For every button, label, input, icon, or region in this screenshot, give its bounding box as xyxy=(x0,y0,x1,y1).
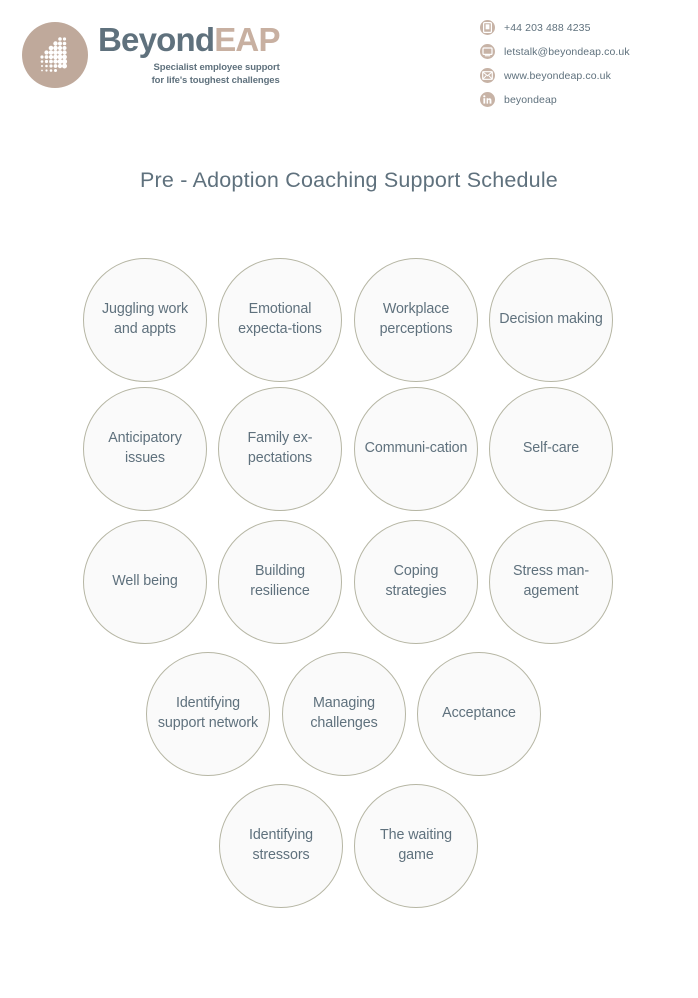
topic-bubble[interactable]: Decision making xyxy=(489,258,613,382)
contact-item-website[interactable]: www.beyondeap.co.uk xyxy=(480,64,680,87)
brand-tagline: Specialist employee support for life's t… xyxy=(98,62,280,88)
topic-bubble-label: Emotional expecta-tions xyxy=(219,300,341,339)
brand-name-secondary: EAP xyxy=(214,21,279,58)
topic-bubble-label: Self-care xyxy=(515,439,587,459)
contact-item-linkedin[interactable]: beyondeap xyxy=(480,88,680,111)
topic-bubble-label: Identifying support network xyxy=(147,694,269,733)
topic-bubble[interactable]: Self-care xyxy=(489,387,613,511)
topic-bubble[interactable]: Acceptance xyxy=(417,652,541,776)
topic-bubble[interactable]: Identifying support network xyxy=(146,652,270,776)
topic-bubble-label: Managing challenges xyxy=(283,694,405,733)
topic-bubble[interactable]: Emotional expecta-tions xyxy=(218,258,342,382)
brand-tagline-line-1: Specialist employee support xyxy=(98,62,280,75)
topic-bubble-label: Acceptance xyxy=(434,704,524,724)
topic-bubble[interactable]: Anticipatory issues xyxy=(83,387,207,511)
topic-bubble[interactable]: Family ex-pectations xyxy=(218,387,342,511)
envelope-icon xyxy=(480,68,495,83)
linkedin-icon xyxy=(480,92,495,107)
contact-linkedin-text: beyondeap xyxy=(504,94,557,106)
contact-item-email[interactable]: letstalk@beyondeap.co.uk xyxy=(480,40,680,63)
brand-logo: BeyondEAP Specialist employee support fo… xyxy=(22,20,280,88)
topic-bubble-label: Well being xyxy=(104,572,186,592)
topic-bubble[interactable]: Managing challenges xyxy=(282,652,406,776)
topic-bubble[interactable]: Well being xyxy=(83,520,207,644)
topic-bubble[interactable]: Communi-cation xyxy=(354,387,478,511)
topic-bubble[interactable]: Building resilience xyxy=(218,520,342,644)
bubble-diagram: Juggling work and apptsEmotional expecta… xyxy=(0,252,698,922)
topic-bubble-label: Coping strategies xyxy=(355,562,477,601)
topic-bubble[interactable]: The waiting game xyxy=(354,784,478,908)
brand-name: BeyondEAP xyxy=(98,23,280,56)
brand-wordmark: BeyondEAP Specialist employee support fo… xyxy=(98,20,280,88)
topic-bubble-label: Building resilience xyxy=(219,562,341,601)
contact-list: +44 203 488 4235 letstalk@beyondeap.co.u… xyxy=(480,16,680,112)
page-header: BeyondEAP Specialist employee support fo… xyxy=(0,0,698,130)
topic-bubble-label: Stress man-agement xyxy=(490,562,612,601)
topic-bubble-label: Decision making xyxy=(491,310,610,330)
topic-bubble-label: Family ex-pectations xyxy=(219,429,341,468)
contact-phone-text: +44 203 488 4235 xyxy=(504,22,591,34)
contact-email-text: letstalk@beyondeap.co.uk xyxy=(504,46,630,58)
contact-website-text: www.beyondeap.co.uk xyxy=(504,70,611,82)
topic-bubble[interactable]: Coping strategies xyxy=(354,520,478,644)
topic-bubble-label: Juggling work and appts xyxy=(84,300,206,339)
phone-icon xyxy=(480,20,495,35)
topic-bubble-label: Anticipatory issues xyxy=(84,429,206,468)
topic-bubble-label: The waiting game xyxy=(355,826,477,865)
topic-bubble-label: Workplace perceptions xyxy=(355,300,477,339)
topic-bubble[interactable]: Juggling work and appts xyxy=(83,258,207,382)
topic-bubble-label: Identifying stressors xyxy=(220,826,342,865)
topic-bubble[interactable]: Workplace perceptions xyxy=(354,258,478,382)
topic-bubble[interactable]: Stress man-agement xyxy=(489,520,613,644)
dotted-arrow-icon xyxy=(22,22,88,88)
page-title: Pre - Adoption Coaching Support Schedule xyxy=(0,168,698,193)
contact-item-phone[interactable]: +44 203 488 4235 xyxy=(480,16,680,39)
topic-bubble[interactable]: Identifying stressors xyxy=(219,784,343,908)
monitor-icon xyxy=(480,44,495,59)
brand-tagline-line-2: for life's toughest challenges xyxy=(98,75,280,88)
topic-bubble-label: Communi-cation xyxy=(357,439,476,459)
brand-name-primary: Beyond xyxy=(98,21,214,58)
